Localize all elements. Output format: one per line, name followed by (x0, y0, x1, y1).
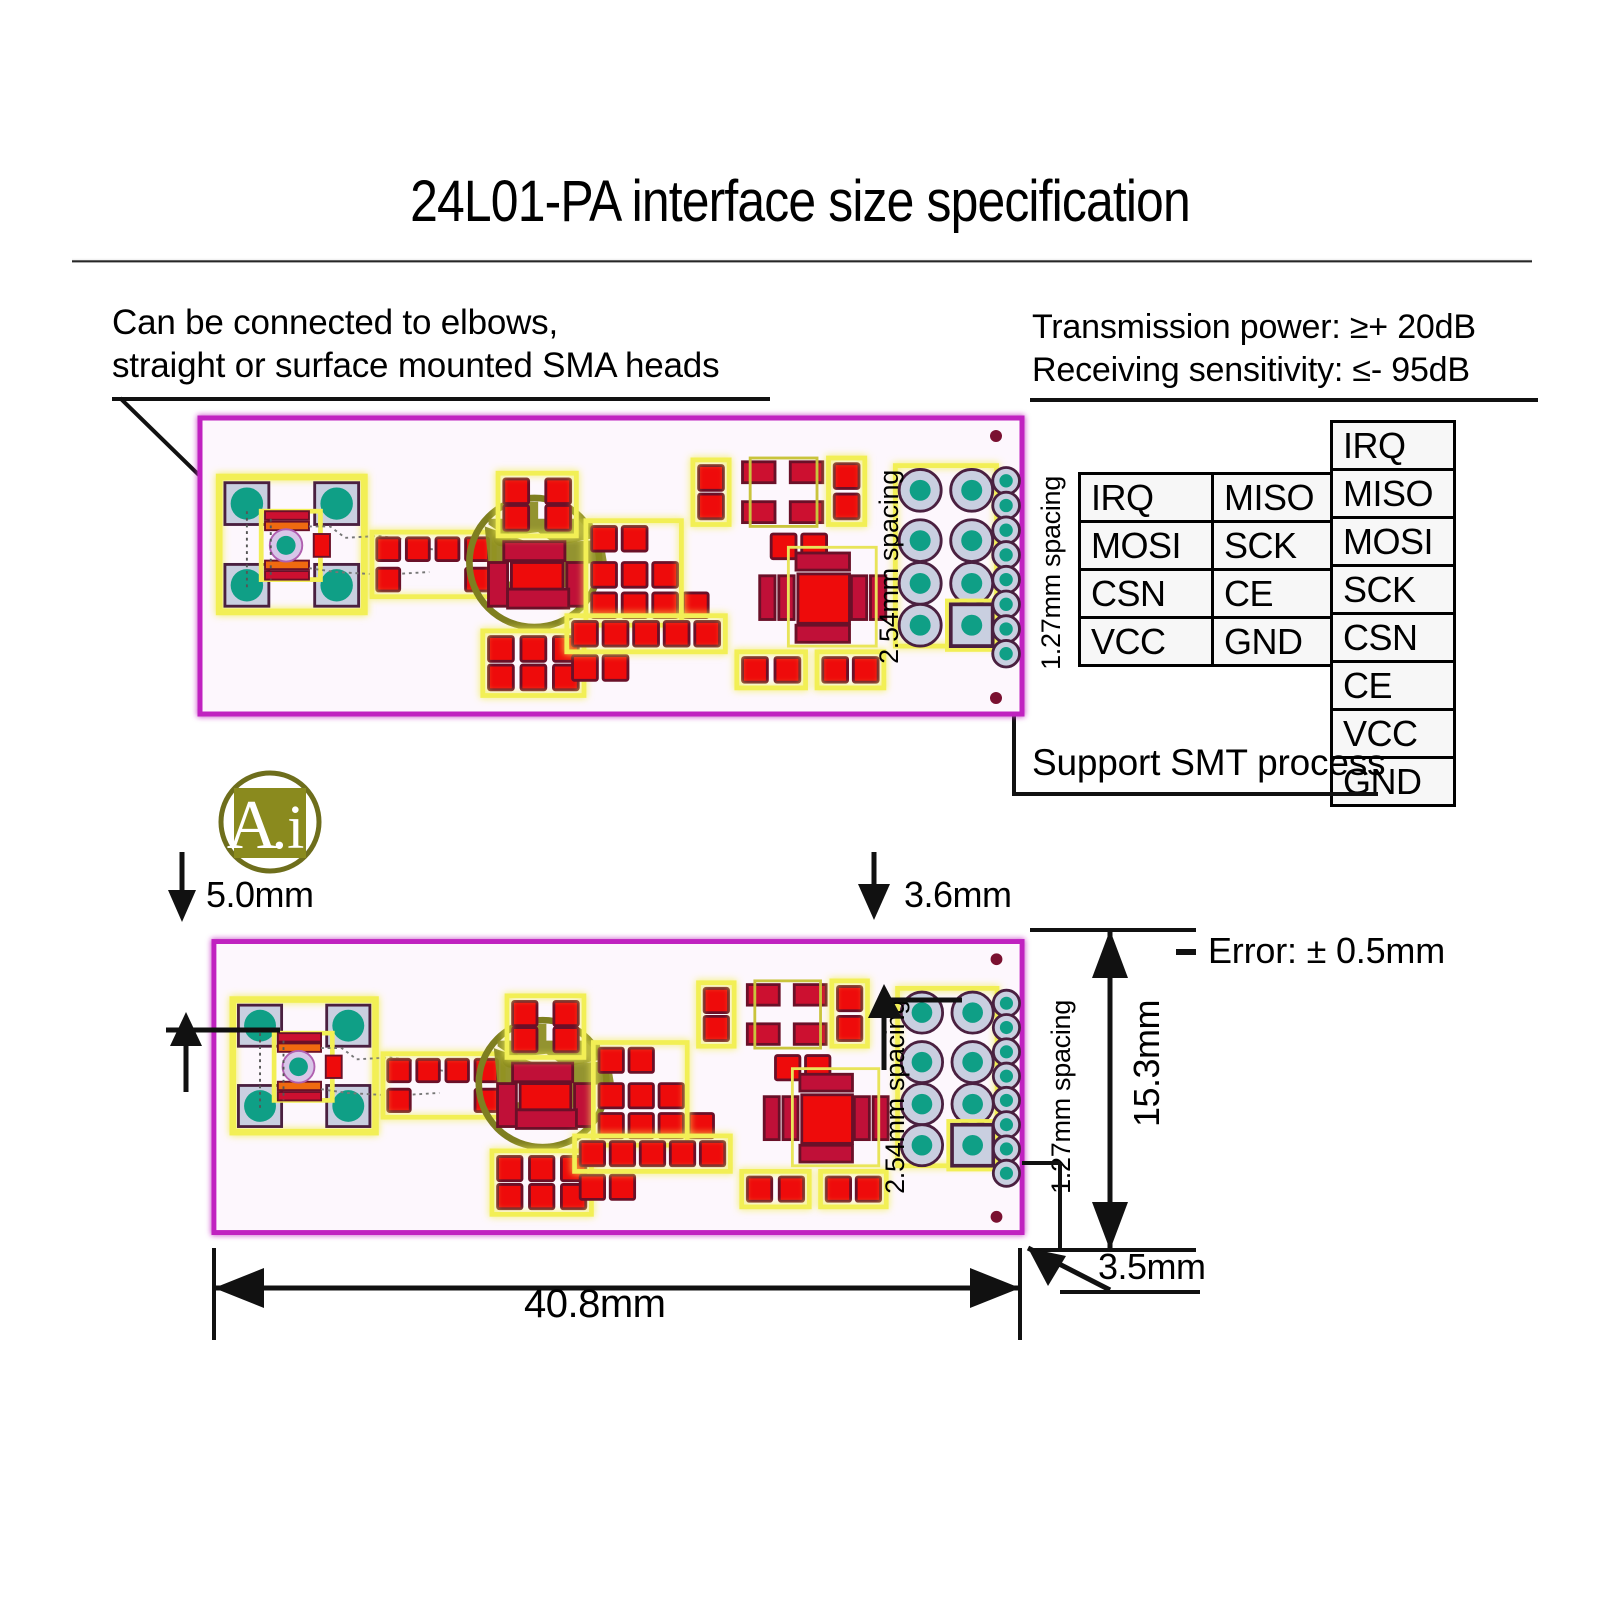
diagram-root: 24L01-PA interface size specification Ca… (0, 0, 1600, 1600)
dimension-corner: 3.5mm (1098, 1246, 1206, 1288)
dimension-height: 15.3mm (1126, 1000, 1168, 1127)
bottom-dimension-lines (0, 0, 1600, 1600)
dimension-width: 40.8mm (524, 1282, 666, 1327)
